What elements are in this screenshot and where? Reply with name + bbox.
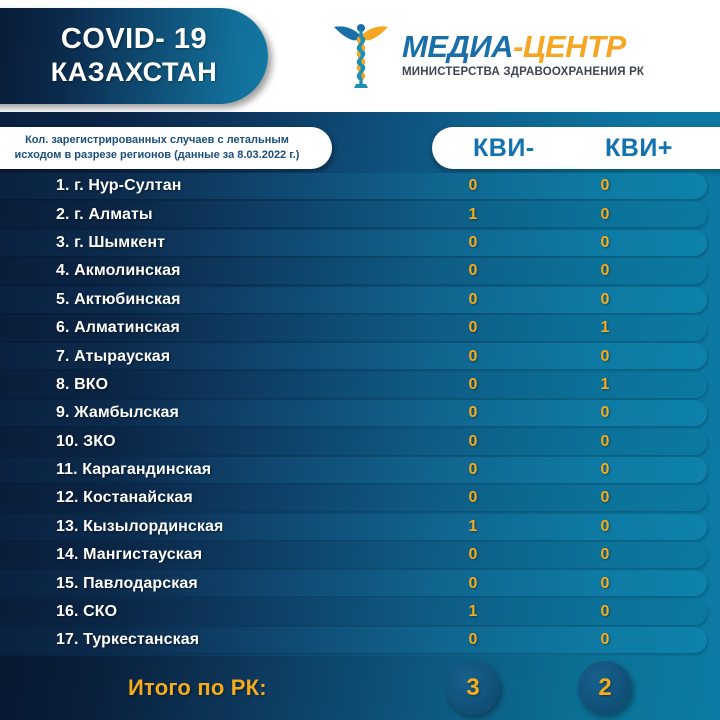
region-name: 3. г. Шымкент [56,229,165,257]
region-name: 7. Атырауская [56,342,170,370]
subtitle-text: Кол. зарегистрированных случаев с леталь… [15,133,300,163]
table-row: 15. Павлодарская00 [0,569,710,597]
logo-text: МЕДИА-ЦЕНТР МИНИСТЕРСТВА ЗДРАВООХРАНЕНИЯ… [402,30,644,80]
region-name: 11. Карагандинская [56,456,211,484]
cell-negative: 0 [453,456,493,484]
region-name: 14. Мангистауская [56,541,202,569]
page-title-line1: COVID- 19 [61,23,207,56]
table-row: 9. Жамбылская00 [0,399,710,427]
cell-positive: 0 [585,200,625,228]
table-row: 12. Костанайская00 [0,484,710,512]
caduceus-icon [330,19,392,91]
subtitle-line1: Кол. зарегистрированных случаев с леталь… [15,133,300,148]
cell-negative: 1 [453,598,493,626]
table-row: 17. Туркестанская00 [0,626,710,654]
cell-negative: 0 [453,399,493,427]
cell-negative: 0 [453,229,493,257]
cell-positive: 0 [585,513,625,541]
region-name: 13. Кызылординская [56,513,223,541]
logo-word-media: МЕДИА [402,29,513,64]
page-title-line2: КАЗАХСТАН [51,56,218,89]
title-block: COVID- 19 КАЗАХСТАН [0,8,268,104]
region-name: 10. ЗКО [56,428,116,456]
region-table: 1. г. Нур-Султан002. г. Алматы103. г. Шы… [0,172,720,655]
cell-negative: 0 [453,428,493,456]
region-name: 4. Акмолинская [56,257,181,285]
subtitle-pill: Кол. зарегистрированных случаев с леталь… [0,127,332,169]
total-positive-badge: 2 [578,661,632,715]
region-name: 16. СКО [56,598,117,626]
region-name: 1. г. Нур-Султан [56,172,182,200]
table-row: 13. Кызылординская10 [0,513,710,541]
table-row: 5. Актюбинская00 [0,286,710,314]
cell-positive: 0 [585,626,625,654]
table-row: 6. Алматинская01 [0,314,710,342]
table-row: 4. Акмолинская00 [0,257,710,285]
cell-positive: 0 [585,428,625,456]
cell-positive: 0 [585,569,625,597]
cell-positive: 0 [585,286,625,314]
cell-positive: 0 [585,257,625,285]
infographic-page: COVID- 19 КАЗАХСТАН МЕДИА-ЦЕНТР [0,0,720,720]
cell-positive: 0 [585,598,625,626]
logo-word-center: -ЦЕНТР [513,29,626,64]
column-header-pill: КВИ- КВИ+ [432,127,720,169]
region-name: 15. Павлодарская [56,569,198,597]
total-negative-badge: 3 [446,661,500,715]
cell-negative: 0 [453,484,493,512]
region-name: 5. Актюбинская [56,286,181,314]
region-name: 6. Алматинская [56,314,180,342]
subtitle-line2: исходом в разрезе регионов (данные за 8.… [15,148,300,163]
logo-subtitle: МИНИСТЕРСТВА ЗДРАВООХРАНЕНИЯ РК [402,65,644,80]
header-band: COVID- 19 КАЗАХСТАН МЕДИА-ЦЕНТР [0,0,720,112]
cell-negative: 0 [453,569,493,597]
cell-positive: 1 [585,371,625,399]
cell-negative: 0 [453,286,493,314]
cell-negative: 1 [453,513,493,541]
table-row: 2. г. Алматы10 [0,200,710,228]
cell-negative: 0 [453,541,493,569]
column-header-negative: КВИ- [473,134,535,163]
table-row: 1. г. Нур-Султан00 [0,172,710,200]
table-row: 14. Мангистауская00 [0,541,710,569]
cell-negative: 0 [453,172,493,200]
table-row: 8. ВКО01 [0,371,710,399]
cell-negative: 0 [453,314,493,342]
region-name: 17. Туркестанская [56,626,199,654]
media-center-logo: МЕДИА-ЦЕНТР МИНИСТЕРСТВА ЗДРАВООХРАНЕНИЯ… [330,14,644,96]
table-row: 10. ЗКО00 [0,428,710,456]
cell-positive: 0 [585,172,625,200]
total-label: Итого по РК: [128,675,267,701]
cell-negative: 0 [453,257,493,285]
cell-negative: 1 [453,200,493,228]
cell-positive: 0 [585,399,625,427]
cell-negative: 0 [453,626,493,654]
cell-negative: 0 [453,371,493,399]
table-row: 11. Карагандинская00 [0,456,710,484]
region-name: 2. г. Алматы [56,200,153,228]
region-name: 9. Жамбылская [56,399,179,427]
table-row: 3. г. Шымкент00 [0,229,710,257]
region-name: 12. Костанайская [56,484,193,512]
cell-positive: 1 [585,314,625,342]
table-row: 7. Атырауская00 [0,342,710,370]
total-row: Итого по РК: 3 2 [0,656,720,720]
cell-positive: 0 [585,229,625,257]
logo-wordmark: МЕДИА-ЦЕНТР [402,30,644,64]
region-name: 8. ВКО [56,371,108,399]
cell-negative: 0 [453,342,493,370]
table-row: 16. СКО10 [0,598,710,626]
cell-positive: 0 [585,456,625,484]
cell-positive: 0 [585,541,625,569]
cell-positive: 0 [585,342,625,370]
column-header-positive: КВИ+ [605,134,673,163]
cell-positive: 0 [585,484,625,512]
